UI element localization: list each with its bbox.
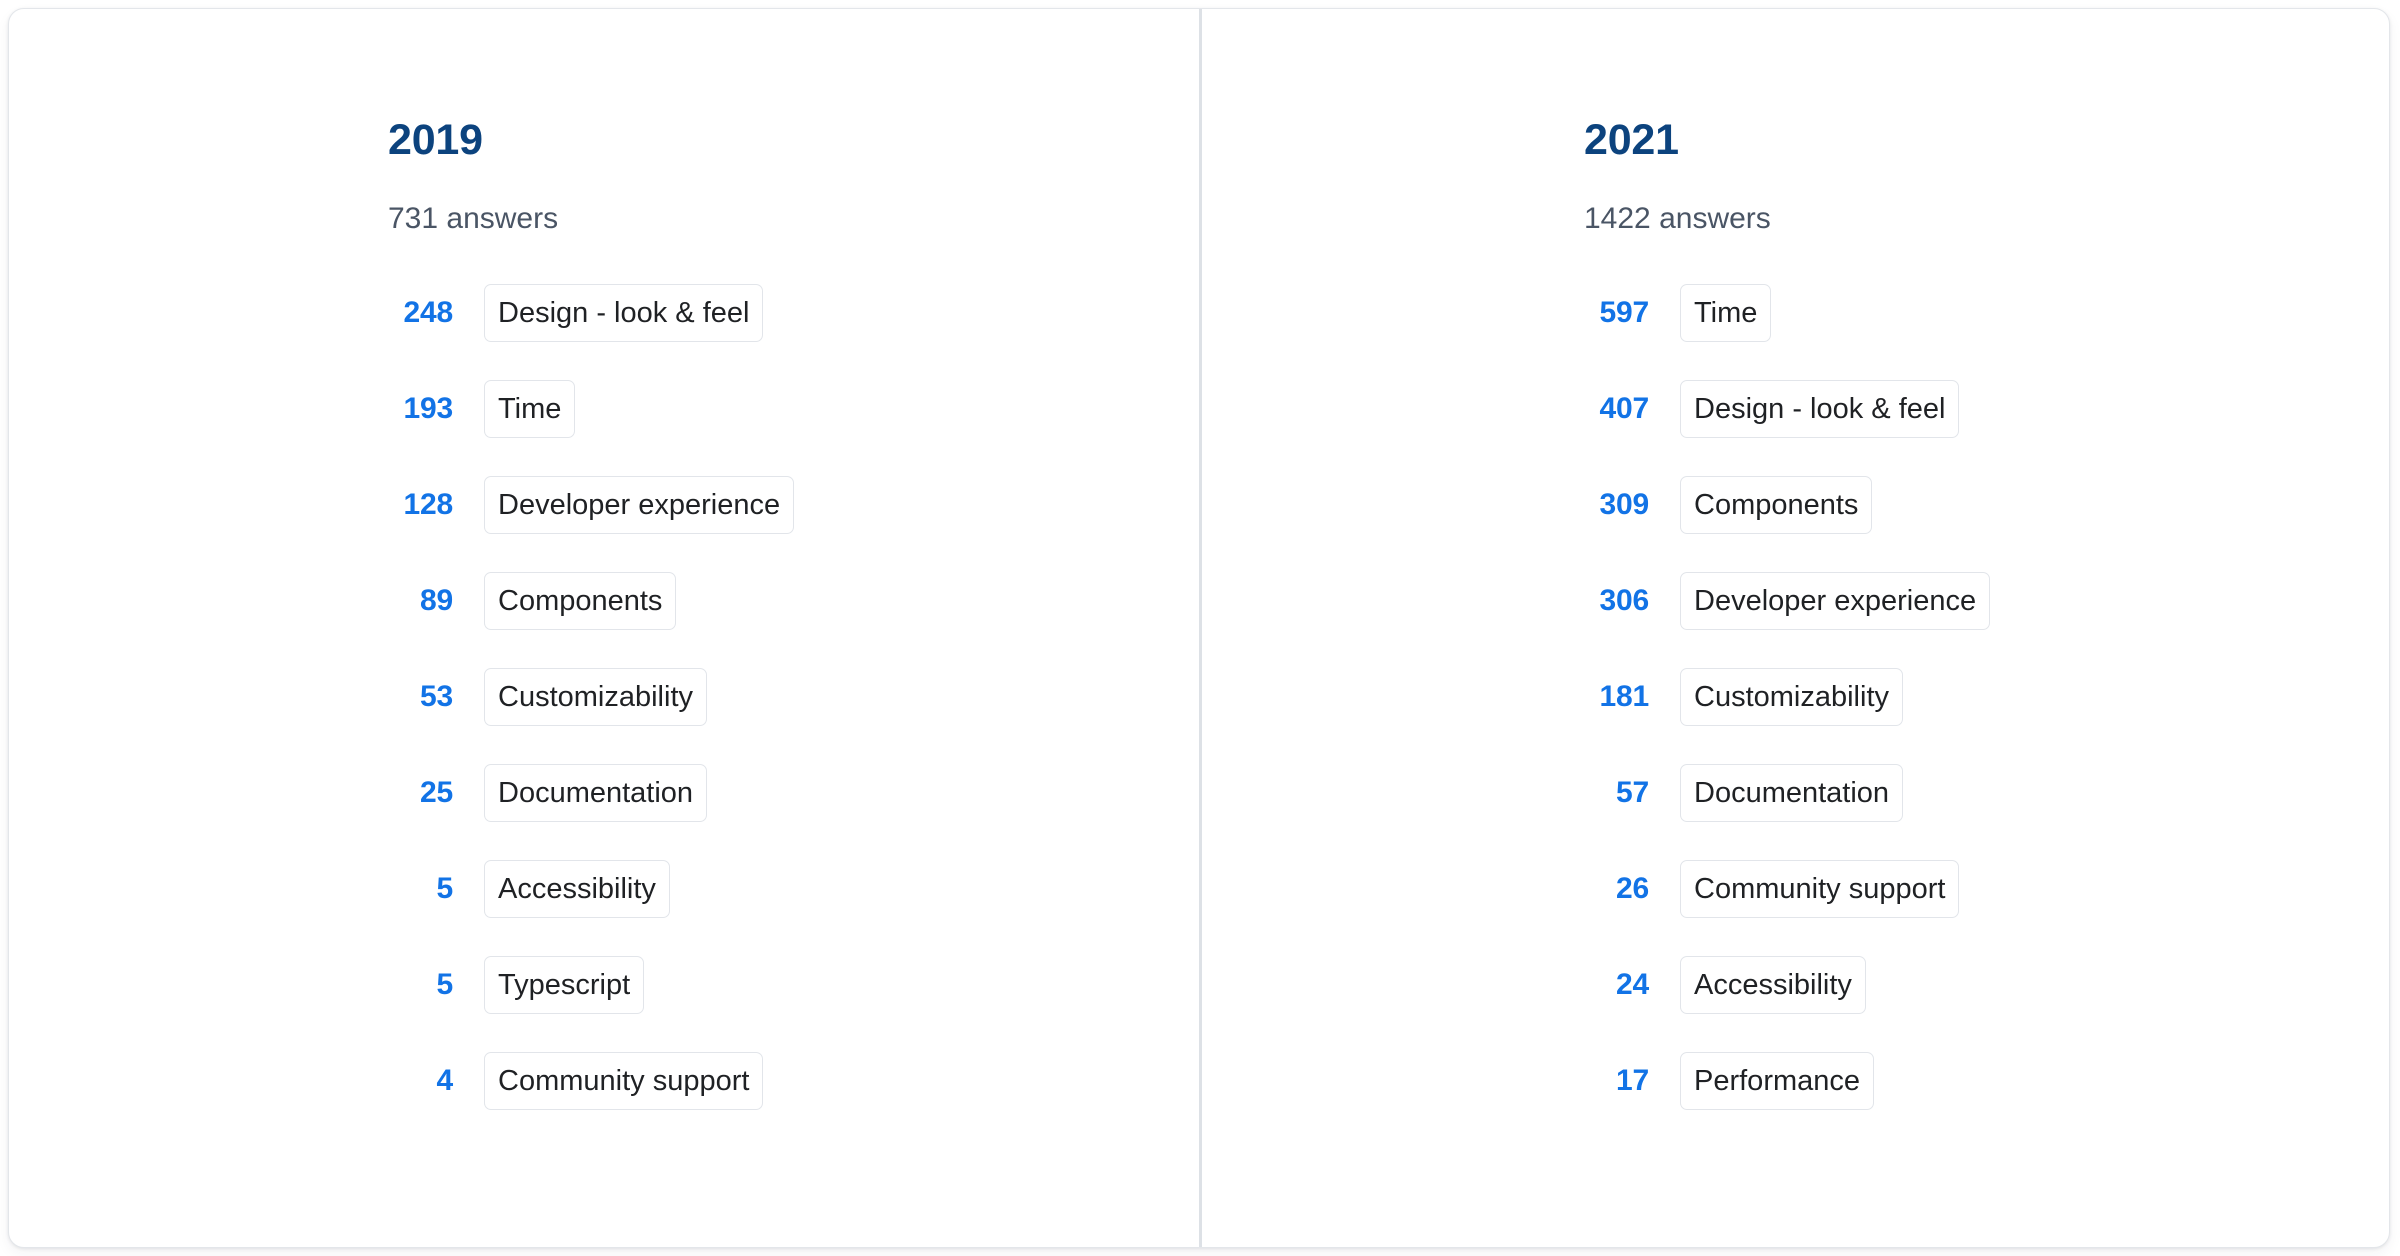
list-item[interactable]: 193 Time — [385, 380, 1199, 438]
row-count: 306 — [1581, 586, 1649, 616]
list-item[interactable]: 17 Performance — [1581, 1052, 2389, 1110]
row-count: 128 — [385, 490, 453, 520]
row-label-chip[interactable]: Developer experience — [1680, 572, 1990, 630]
list-item[interactable]: 5 Accessibility — [385, 860, 1199, 918]
row-count: 181 — [1581, 682, 1649, 712]
list-item[interactable]: 309 Components — [1581, 476, 2389, 534]
results-list-2021: 597 Time 407 Design - look & feel 309 Co… — [1581, 284, 2389, 1110]
row-label-chip[interactable]: Documentation — [484, 764, 707, 822]
list-item[interactable]: 53 Customizability — [385, 668, 1199, 726]
row-label-chip[interactable]: Accessibility — [484, 860, 670, 918]
row-label-chip[interactable]: Time — [1680, 284, 1771, 342]
list-item[interactable]: 26 Community support — [1581, 860, 2389, 918]
page-root: 2019 731 answers 248 Design - look & fee… — [0, 0, 2400, 1256]
row-label-chip[interactable]: Components — [484, 572, 676, 630]
row-label-chip[interactable]: Customizability — [1680, 668, 1903, 726]
list-item[interactable]: 5 Typescript — [385, 956, 1199, 1014]
list-item[interactable]: 306 Developer experience — [1581, 572, 2389, 630]
row-count: 5 — [385, 970, 453, 1000]
list-item[interactable]: 4 Community support — [385, 1052, 1199, 1110]
list-item[interactable]: 248 Design - look & feel — [385, 284, 1199, 342]
row-count: 309 — [1581, 490, 1649, 520]
comparison-card: 2019 731 answers 248 Design - look & fee… — [8, 8, 2390, 1248]
page-title-2021: 2021 — [1584, 119, 2389, 162]
list-item[interactable]: 597 Time — [1581, 284, 2389, 342]
row-count: 17 — [1581, 1066, 1649, 1096]
list-item[interactable]: 407 Design - look & feel — [1581, 380, 2389, 438]
panel-2019: 2019 731 answers 248 Design - look & fee… — [9, 9, 1199, 1247]
row-count: 53 — [385, 682, 453, 712]
panel-2021: 2021 1422 answers 597 Time 407 Design - … — [1199, 9, 2389, 1247]
row-count: 597 — [1581, 298, 1649, 328]
row-label-chip[interactable]: Customizability — [484, 668, 707, 726]
row-count: 407 — [1581, 394, 1649, 424]
row-label-chip[interactable]: Community support — [1680, 860, 1959, 918]
page-title-2019: 2019 — [388, 119, 1199, 162]
list-item[interactable]: 25 Documentation — [385, 764, 1199, 822]
row-count: 26 — [1581, 874, 1649, 904]
row-count: 248 — [385, 298, 453, 328]
row-count: 25 — [385, 778, 453, 808]
row-label-chip[interactable]: Accessibility — [1680, 956, 1866, 1014]
row-label-chip[interactable]: Documentation — [1680, 764, 1903, 822]
row-label-chip[interactable]: Typescript — [484, 956, 644, 1014]
answers-count-2019: 731 answers — [388, 204, 1199, 234]
results-list-2019: 248 Design - look & feel 193 Time 128 De… — [385, 284, 1199, 1110]
row-label-chip[interactable]: Performance — [1680, 1052, 1874, 1110]
row-count: 193 — [385, 394, 453, 424]
row-label-chip[interactable]: Time — [484, 380, 575, 438]
row-label-chip[interactable]: Components — [1680, 476, 1872, 534]
list-item[interactable]: 24 Accessibility — [1581, 956, 2389, 1014]
list-item[interactable]: 57 Documentation — [1581, 764, 2389, 822]
row-count: 57 — [1581, 778, 1649, 808]
row-label-chip[interactable]: Design - look & feel — [1680, 380, 1959, 438]
list-item[interactable]: 89 Components — [385, 572, 1199, 630]
row-count: 89 — [385, 586, 453, 616]
row-label-chip[interactable]: Community support — [484, 1052, 763, 1110]
row-count: 5 — [385, 874, 453, 904]
list-item[interactable]: 128 Developer experience — [385, 476, 1199, 534]
list-item[interactable]: 181 Customizability — [1581, 668, 2389, 726]
row-count: 4 — [385, 1066, 453, 1096]
row-label-chip[interactable]: Developer experience — [484, 476, 794, 534]
row-count: 24 — [1581, 970, 1649, 1000]
answers-count-2021: 1422 answers — [1584, 204, 2389, 234]
row-label-chip[interactable]: Design - look & feel — [484, 284, 763, 342]
